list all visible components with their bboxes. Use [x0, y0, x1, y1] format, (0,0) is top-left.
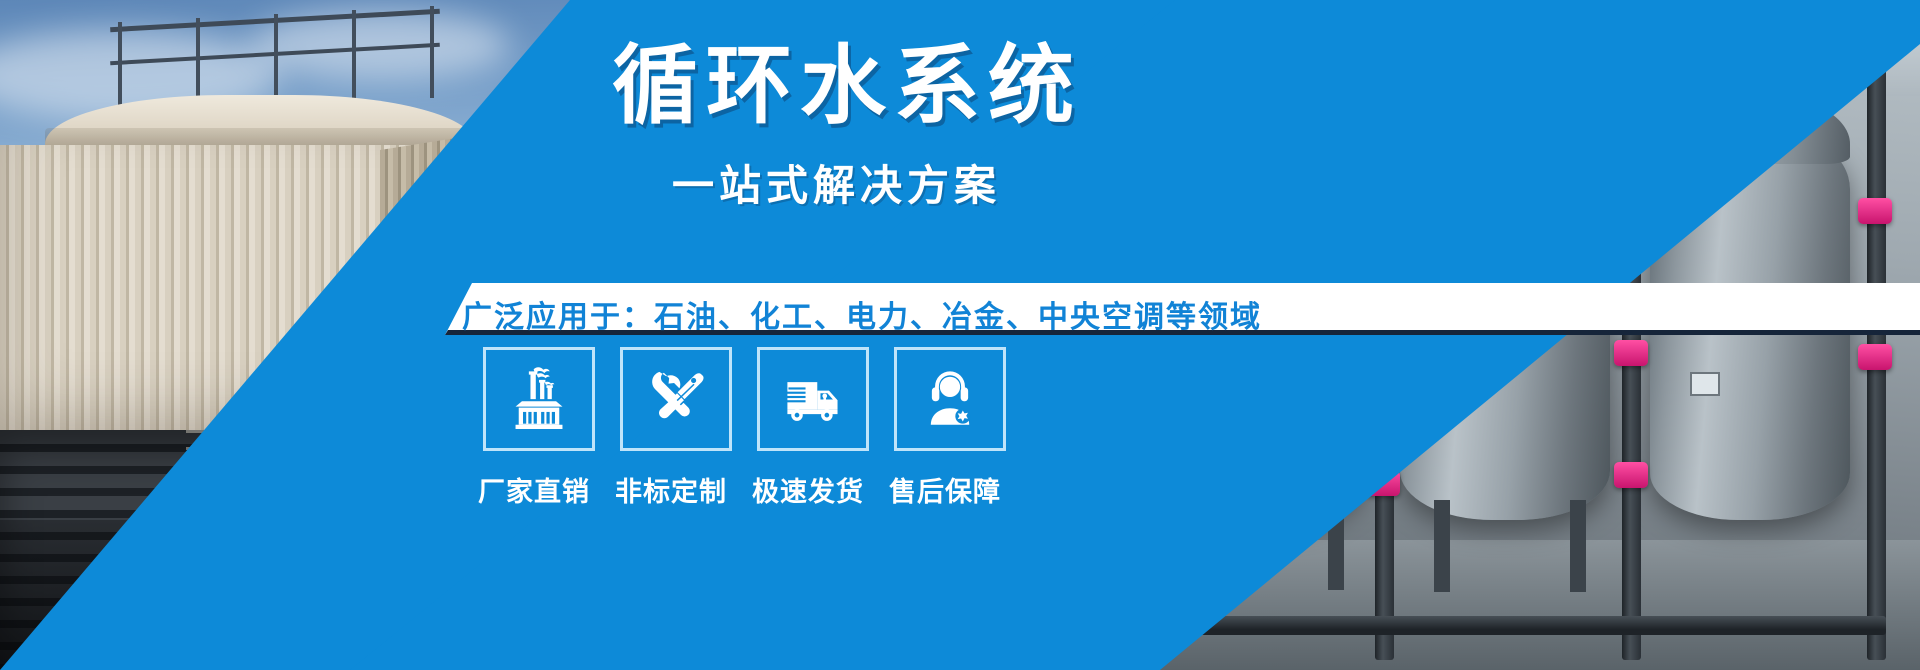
control-panel — [1690, 372, 1720, 396]
truck-icon — [778, 365, 848, 434]
factory-icon — [504, 365, 574, 434]
promo-banner: 循环水系统 一站式解决方案 广泛应用于：石油、化工、电力、冶金、中央空调等领域 — [0, 0, 1920, 670]
page-title: 循环水系统 — [612, 38, 1082, 134]
page-subtitle: 一站式解决方案 — [672, 152, 1001, 213]
feature-label-row: 厂家直销 非标定制 极速发货 售后保障 — [478, 470, 1001, 509]
application-scope-text: 广泛应用于：石油、化工、电力、冶金、中央空调等领域 — [462, 292, 1262, 336]
railing-post — [118, 22, 122, 114]
feature-label-shipping: 极速发货 — [752, 470, 864, 509]
railing-post — [352, 10, 356, 102]
valve-handle — [1614, 340, 1648, 366]
feature-icon-row — [483, 347, 1006, 451]
feature-icon-box-tools[interactable] — [620, 347, 732, 451]
support-icon — [915, 365, 985, 434]
feature-label-factory: 厂家直销 — [478, 470, 590, 509]
valve-handle — [1858, 344, 1892, 370]
tools-icon — [641, 365, 711, 434]
feature-icon-box-factory[interactable] — [483, 347, 595, 451]
feature-label-warranty: 售后保障 — [889, 470, 1001, 509]
railing-post — [274, 14, 278, 106]
process-pipe — [1146, 616, 1886, 635]
feature-icon-box-support[interactable] — [894, 347, 1006, 451]
valve-handle — [1614, 462, 1648, 488]
tank-support-leg — [1570, 500, 1586, 592]
feature-icon-box-truck[interactable] — [757, 347, 869, 451]
valve-handle — [1858, 198, 1892, 224]
feature-label-custom: 非标定制 — [615, 470, 727, 509]
tank-support-leg — [1434, 500, 1450, 592]
railing-post — [430, 6, 434, 98]
